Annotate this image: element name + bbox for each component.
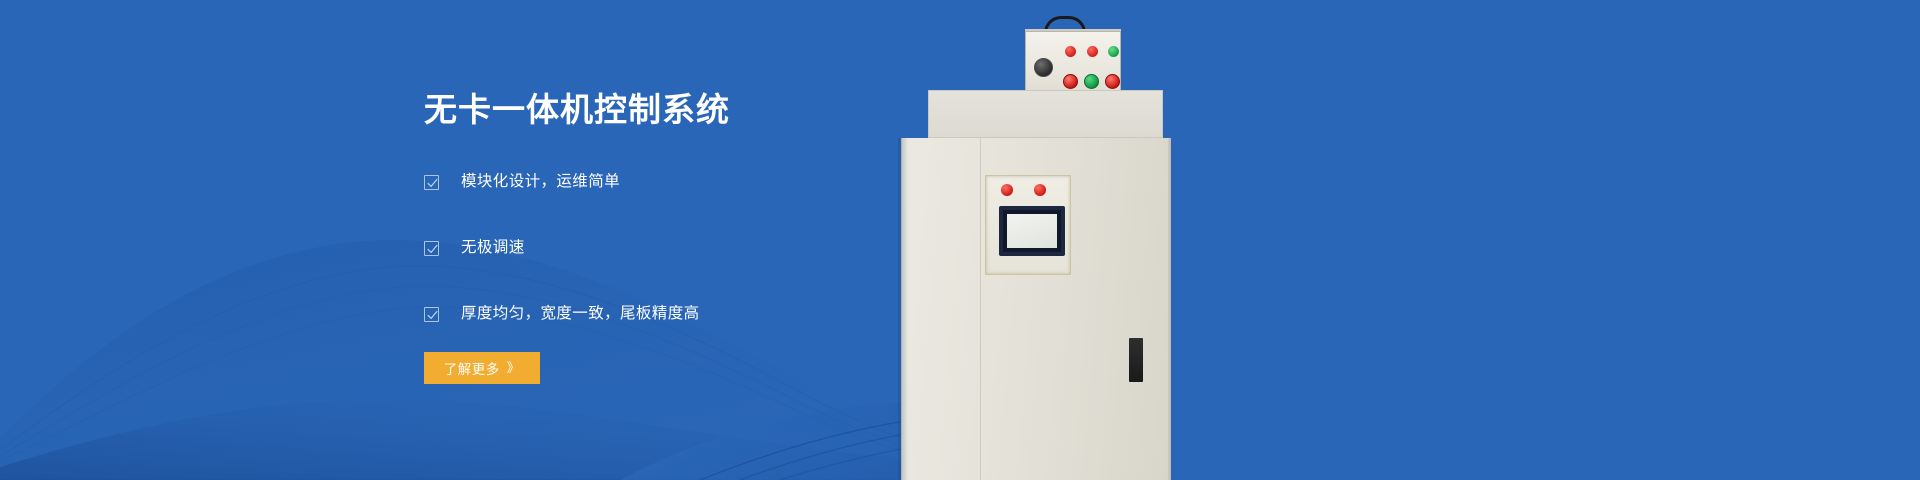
push-button-green <box>1084 74 1099 89</box>
list-item: 厚度均匀，宽度一致，尾板精度高 <box>424 298 964 331</box>
hmi-lamp-red-1 <box>1001 184 1013 196</box>
spacer <box>424 199 964 232</box>
hero-content: 无卡一体机控制系统 模块化设计，运维简单 无极调速 <box>424 90 964 384</box>
list-item: 无极调速 <box>424 232 964 265</box>
selector-knob-icon <box>1034 58 1053 77</box>
list-item-label: 无极调速 <box>461 240 525 256</box>
cabinet-seam <box>980 138 981 480</box>
indicator-lamp-red-2 <box>1087 46 1098 57</box>
product-image <box>898 0 1920 480</box>
hmi-screen-surface <box>1007 214 1057 248</box>
list-item-label: 模块化设计，运维简单 <box>461 174 620 190</box>
list-item: 模块化设计，运维简单 <box>424 166 964 199</box>
push-button-red-1 <box>1063 74 1078 89</box>
list-item-label: 厚度均匀，宽度一致，尾板精度高 <box>461 306 700 322</box>
indicator-lamp-green <box>1108 46 1119 57</box>
push-button-red-2 <box>1105 74 1120 89</box>
cta-container: 了解更多 》 <box>424 352 964 384</box>
learn-more-label: 了解更多 <box>444 358 500 378</box>
page-title: 无卡一体机控制系统 <box>424 90 964 130</box>
indicator-lamp-red-1 <box>1065 46 1076 57</box>
hmi-panel <box>985 175 1071 275</box>
cabinet-vent <box>1129 338 1143 382</box>
check-icon <box>424 307 439 322</box>
hero-banner: 无卡一体机控制系统 模块化设计，运维简单 无极调速 <box>0 0 1920 480</box>
hmi-touchscreen <box>999 206 1065 256</box>
learn-more-button[interactable]: 了解更多 》 <box>424 352 540 384</box>
check-icon <box>424 175 439 190</box>
feature-list: 模块化设计，运维简单 无极调速 厚度均匀，宽度一致，尾板精度高 <box>424 166 964 331</box>
check-icon <box>424 241 439 256</box>
hmi-lamp-red-2 <box>1034 184 1046 196</box>
spacer <box>424 265 964 298</box>
chevron-right-icon: 》 <box>507 361 521 374</box>
